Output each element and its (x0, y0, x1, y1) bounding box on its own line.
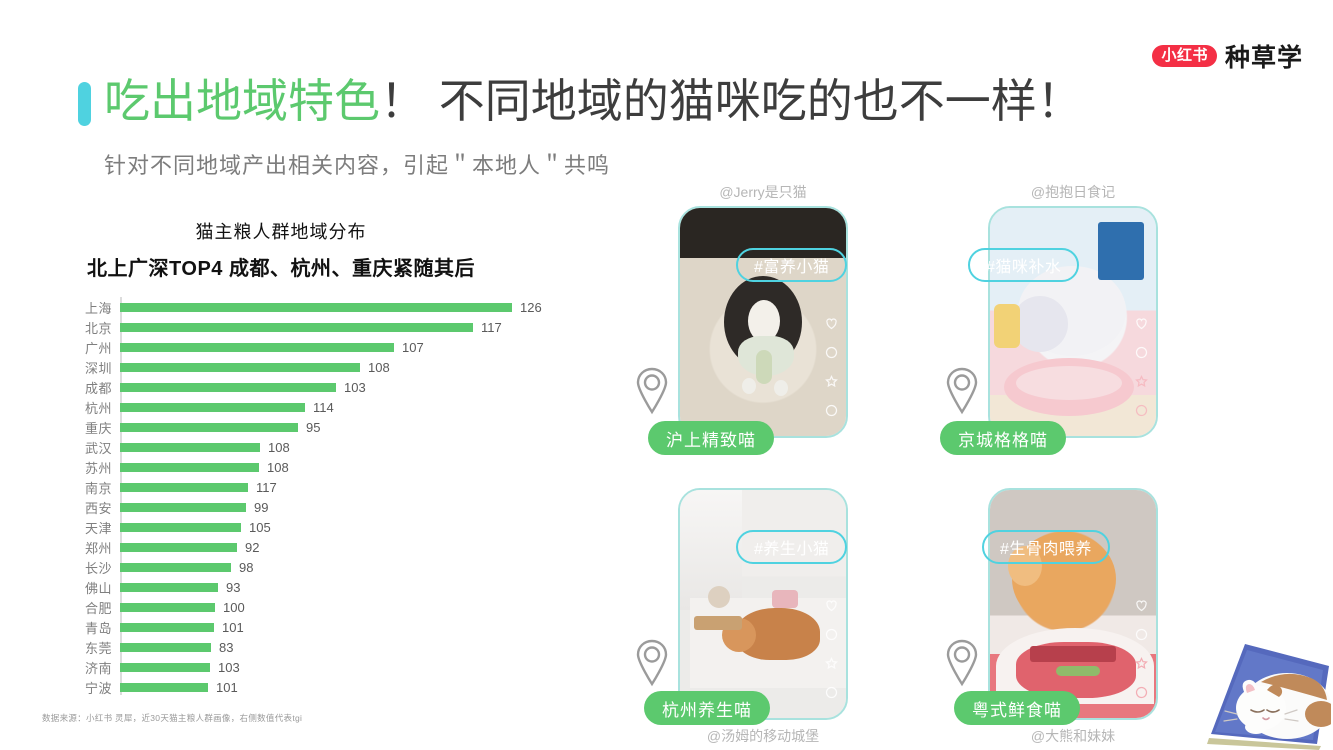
chart-bar-label: 长沙 (28, 558, 112, 577)
chart-bar (120, 623, 214, 632)
card-author-handle: @Jerry是只猫 (678, 182, 848, 202)
chart-bar-value: 107 (402, 340, 424, 355)
chart-bar (120, 383, 336, 392)
chart-bar-value: 93 (226, 580, 240, 595)
chart-bar-row: 东莞83 (120, 637, 588, 657)
chart-bar (120, 443, 260, 452)
page-title-rest: ！ 不同地域的猫咪吃的也不一样！ (380, 75, 1083, 127)
chart-bar-value: 99 (254, 500, 268, 515)
chart-bar-label: 杭州 (28, 398, 112, 417)
chart-bar (120, 523, 241, 532)
card-hashtag[interactable]: #生骨肉喂养 (982, 530, 1110, 564)
chart-bar-row: 成都103 (120, 377, 588, 397)
star-icon (1134, 656, 1149, 671)
sleeping-cat-illustration (1201, 622, 1331, 750)
star-icon (1134, 374, 1149, 389)
card-photo (990, 490, 1156, 718)
chart-bar (120, 663, 210, 672)
share-icon (824, 403, 839, 418)
chart-bar (120, 303, 512, 312)
card-photo (990, 208, 1156, 436)
card-location-pill[interactable]: 杭州养生喵 (644, 691, 770, 725)
photo-card[interactable]: @抱抱日食记 #猫咪补水 京城格格喵 (988, 206, 1158, 438)
chart-bar-row: 重庆95 (120, 417, 588, 437)
card-hashtag[interactable]: #猫咪补水 (968, 248, 1079, 282)
chart-bar (120, 463, 259, 472)
chart-bar (120, 563, 231, 572)
chart-title: 猫主粮人群地域分布 (66, 218, 496, 244)
chart-bar-row: 天津105 (120, 517, 588, 537)
chart-bar-label: 郑州 (28, 538, 112, 557)
card-author-handle: @汤姆的移动城堡 (678, 726, 848, 746)
chart-bar-label: 南京 (28, 478, 112, 497)
chart-bar-label: 佛山 (28, 578, 112, 597)
chart-bar-value: 100 (223, 600, 245, 615)
chart-bar-label: 青岛 (28, 618, 112, 637)
heart-icon (824, 316, 839, 331)
headline-accent-bar (78, 82, 91, 126)
chart-bar (120, 483, 248, 492)
chart-bar-value: 117 (256, 480, 277, 495)
chart-bar-label: 合肥 (28, 598, 112, 617)
location-pin-icon (940, 364, 984, 418)
chart-bar-row: 长沙98 (120, 557, 588, 577)
chart-bar-row: 青岛101 (120, 617, 588, 637)
photo-engagement-icons (1134, 316, 1149, 418)
chart-bar-label: 天津 (28, 518, 112, 537)
chart-bar (120, 363, 360, 372)
card-photo (680, 490, 846, 718)
photo-engagement-icons (824, 598, 839, 700)
brand-logo: 小红书 种草学 (1152, 38, 1303, 74)
chart-bar-label: 济南 (28, 658, 112, 677)
location-pin-icon (630, 364, 674, 418)
heart-icon (824, 598, 839, 613)
card-location-pill[interactable]: 沪上精致喵 (648, 421, 774, 455)
chart-bar (120, 423, 298, 432)
heart-icon (1134, 316, 1149, 331)
chart-bars: 上海126北京117广州107深圳108成都103杭州114重庆95武汉108苏… (120, 297, 588, 697)
location-pin-icon (940, 636, 984, 690)
chart-bar-value: 101 (216, 680, 238, 695)
chart-bar-value: 98 (239, 560, 253, 575)
chart-bar (120, 683, 208, 692)
heart-icon (1134, 598, 1149, 613)
chart-bar-label: 上海 (28, 298, 112, 317)
chart-bar-row: 深圳108 (120, 357, 588, 377)
chart-bar-value: 103 (344, 380, 366, 395)
chart-bar-label: 深圳 (28, 358, 112, 377)
chart-bar-row: 武汉108 (120, 437, 588, 457)
chart-bar-value: 108 (368, 360, 390, 375)
page-subtitle: 针对不同地域产出相关内容，引起＂本地人＂共鸣 (104, 148, 610, 180)
page-title: 吃出地域特色！ 不同地域的猫咪吃的也不一样！ (104, 76, 1083, 128)
chart-bar-row: 广州107 (120, 337, 588, 357)
comment-icon (1134, 627, 1149, 642)
chart-bar-value: 108 (268, 440, 290, 455)
chart-bar-value: 103 (218, 660, 240, 675)
chart-bar-row: 西安99 (120, 497, 588, 517)
star-icon (824, 656, 839, 671)
chart-bar-row: 宁波101 (120, 677, 588, 697)
region-distribution-chart: 猫主粮人群地域分布 北上广深TOP4 成都、杭州、重庆紧随其后 上海126北京1… (28, 218, 588, 697)
chart-bar-value: 126 (520, 300, 542, 315)
chart-bar-row: 合肥100 (120, 597, 588, 617)
phone-frame (988, 206, 1158, 438)
chart-bar (120, 583, 218, 592)
chart-bar-value: 95 (306, 420, 320, 435)
brand-name-label: 种草学 (1225, 38, 1303, 74)
card-author-handle: @抱抱日食记 (988, 182, 1158, 202)
share-icon (824, 685, 839, 700)
chart-bar-label: 东莞 (28, 638, 112, 657)
star-icon (824, 374, 839, 389)
chart-bar-row: 南京117 (120, 477, 588, 497)
chart-subtitle: 北上广深TOP4 成都、杭州、重庆紧随其后 (66, 252, 496, 281)
chart-bar-row: 济南103 (120, 657, 588, 677)
chart-bar-row: 佛山93 (120, 577, 588, 597)
chart-bar-label: 成都 (28, 378, 112, 397)
chart-source-note: 数据来源：小红书 灵犀，近30天猫主粮人群画像，右侧数值代表tgi (42, 712, 302, 724)
chart-bar-label: 广州 (28, 338, 112, 357)
chart-bar-row: 郑州92 (120, 537, 588, 557)
chart-bar-value: 108 (267, 460, 289, 475)
chart-bar-value: 83 (219, 640, 233, 655)
chart-bar (120, 543, 237, 552)
chart-bar (120, 403, 305, 412)
chart-bar-row: 苏州108 (120, 457, 588, 477)
chart-bar (120, 643, 211, 652)
comment-icon (824, 627, 839, 642)
phone-frame (678, 488, 848, 720)
chart-bar-value: 105 (249, 520, 271, 535)
page-title-highlight: 吃出地域特色 (104, 75, 380, 127)
chart-bar-label: 宁波 (28, 678, 112, 697)
chart-bar-row: 杭州114 (120, 397, 588, 417)
photo-engagement-icons (1134, 598, 1149, 700)
chart-bar-value: 101 (222, 620, 244, 635)
chart-bar-label: 武汉 (28, 438, 112, 457)
share-icon (1134, 403, 1149, 418)
card-location-pill[interactable]: 粤式鲜食喵 (954, 691, 1080, 725)
chart-plot-area: 上海126北京117广州107深圳108成都103杭州114重庆95武汉108苏… (28, 297, 588, 697)
chart-bar (120, 323, 473, 332)
comment-icon (824, 345, 839, 360)
chart-bar-label: 北京 (28, 318, 112, 337)
card-hashtag[interactable]: #富养小猫 (736, 248, 847, 282)
chart-bar-value: 114 (313, 400, 334, 415)
chart-bar (120, 603, 215, 612)
photo-card[interactable]: #生骨肉喂养 粤式鲜食喵 @大熊和妹妹 (988, 488, 1158, 720)
photo-card[interactable]: #养生小猫 杭州养生喵 @汤姆的移动城堡 (678, 488, 848, 720)
chart-bar-row: 上海126 (120, 297, 588, 317)
chart-bar-row: 北京117 (120, 317, 588, 337)
card-hashtag[interactable]: #养生小猫 (736, 530, 847, 564)
xiaohongshu-badge: 小红书 (1152, 45, 1217, 67)
chart-bar-label: 重庆 (28, 418, 112, 437)
photo-engagement-icons (824, 316, 839, 418)
chart-bar-value: 92 (245, 540, 259, 555)
chart-bar-label: 西安 (28, 498, 112, 517)
photo-card[interactable]: @Jerry是只猫 #富养小猫 沪上精致喵 (678, 206, 848, 438)
phone-frame (678, 206, 848, 438)
card-author-handle: @大熊和妹妹 (988, 726, 1158, 746)
chart-bar (120, 343, 394, 352)
chart-bar (120, 503, 246, 512)
location-pin-icon (630, 636, 674, 690)
chart-bar-label: 苏州 (28, 458, 112, 477)
share-icon (1134, 685, 1149, 700)
chart-bar-value: 117 (481, 320, 502, 335)
card-location-pill[interactable]: 京城格格喵 (940, 421, 1066, 455)
comment-icon (1134, 345, 1149, 360)
card-photo (680, 208, 846, 436)
phone-frame (988, 488, 1158, 720)
